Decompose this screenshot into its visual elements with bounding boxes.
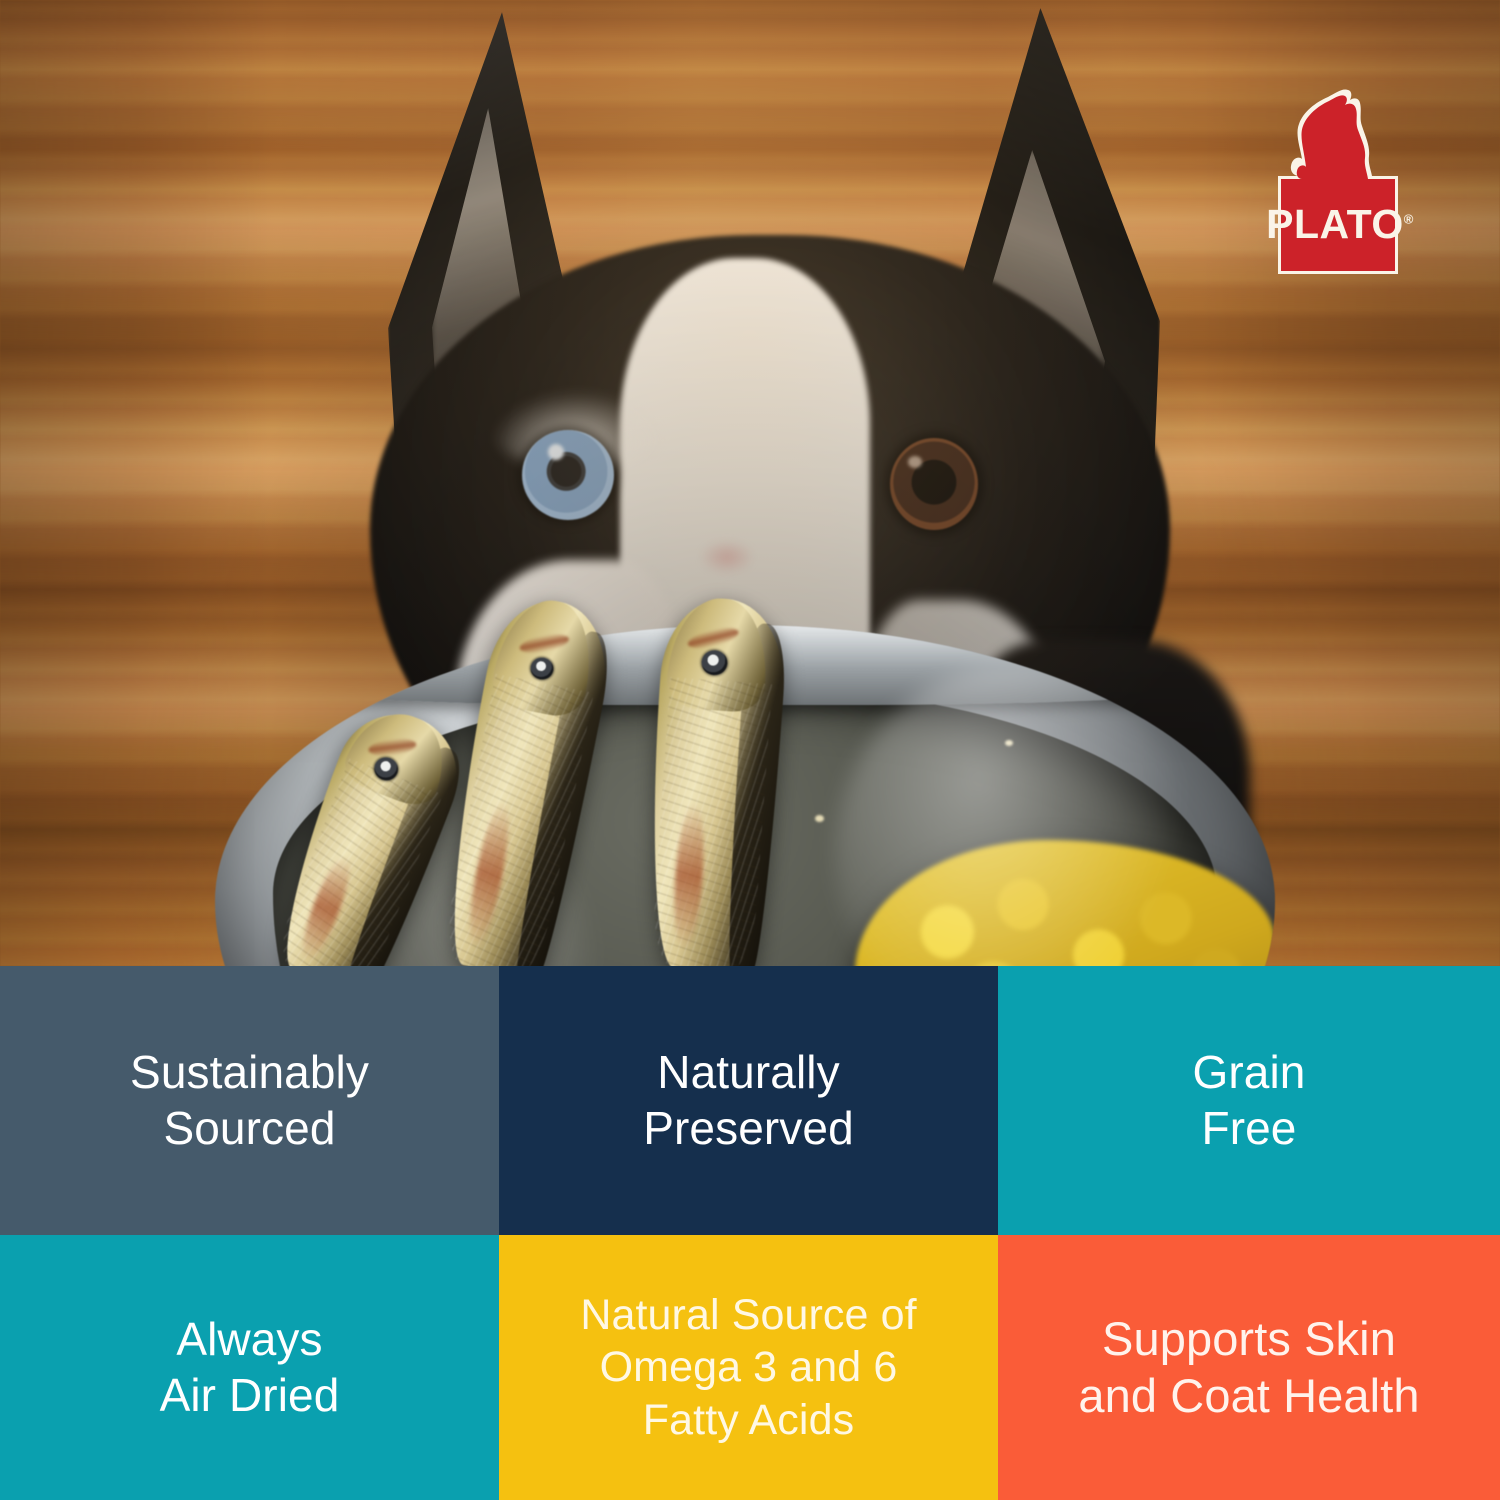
- plato-logo[interactable]: PLATO®: [1266, 84, 1414, 280]
- registered-trademark-symbol: ®: [1404, 211, 1414, 226]
- plato-wordmark: PLATO®: [1266, 204, 1414, 245]
- benefit-tile-omega-fatty-acids[interactable]: Natural Source of Omega 3 and 6 Fatty Ac…: [499, 1235, 998, 1500]
- benefit-tile-naturally-preserved[interactable]: Naturally Preserved: [499, 966, 998, 1235]
- dried-fish-3: [640, 595, 788, 966]
- food-crumb: [815, 815, 824, 822]
- product-feature-graphic: PLATO® Sustainably Sourced Naturally Pre…: [0, 0, 1500, 1500]
- benefit-tile-always-air-dried[interactable]: Always Air Dried: [0, 1235, 499, 1500]
- benefit-label: Naturally Preserved: [643, 1045, 854, 1156]
- benefit-label: Sustainably Sourced: [130, 1045, 369, 1156]
- benefit-label: Natural Source of Omega 3 and 6 Fatty Ac…: [580, 1289, 916, 1445]
- benefit-tile-sustainably-sourced[interactable]: Sustainably Sourced: [0, 966, 499, 1235]
- benefit-tile-grain-free[interactable]: Grain Free: [998, 966, 1500, 1235]
- benefit-label: Grain Free: [1193, 1045, 1306, 1156]
- fish-scales: [650, 677, 772, 966]
- plato-wordmark-text: PLATO: [1266, 201, 1404, 247]
- benefit-tile-skin-and-coat-health[interactable]: Supports Skin and Coat Health: [998, 1235, 1500, 1500]
- benefit-label: Always Air Dried: [160, 1312, 340, 1423]
- hero-photo: PLATO®: [0, 0, 1500, 966]
- plato-logo-icon: [1266, 84, 1414, 280]
- benefits-grid: Sustainably Sourced Naturally Preserved …: [0, 966, 1500, 1500]
- benefit-label: Supports Skin and Coat Health: [1078, 1311, 1419, 1425]
